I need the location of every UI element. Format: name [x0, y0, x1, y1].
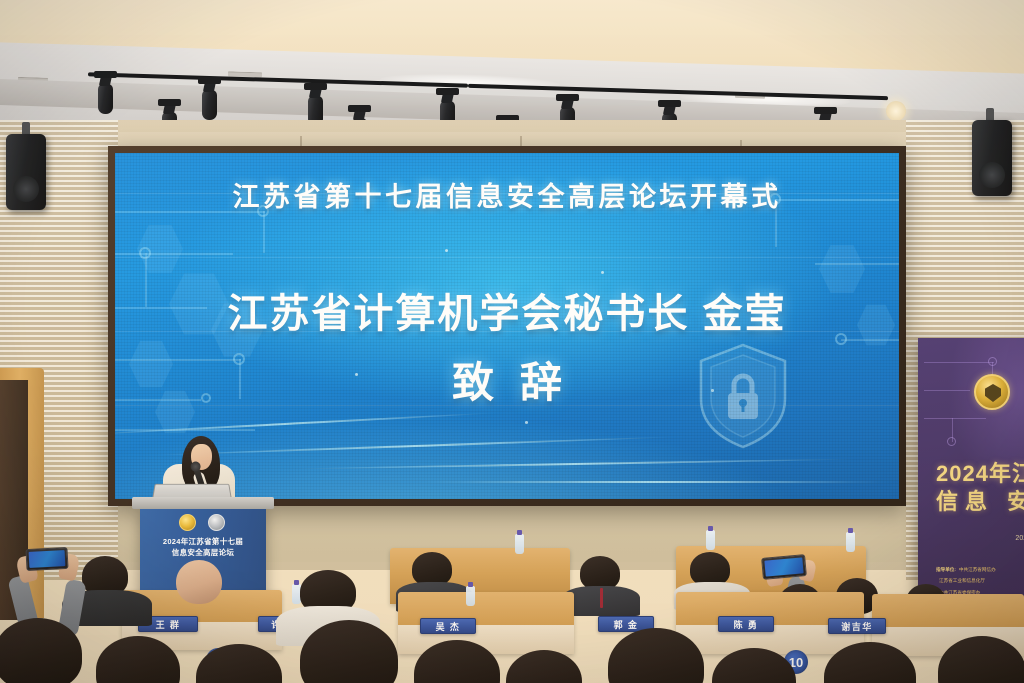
track-spotlight [202, 90, 217, 120]
light-wave [415, 481, 895, 483]
audience-head [412, 552, 452, 586]
wall-speaker-left [6, 134, 46, 210]
banner-circuit-trace [924, 418, 986, 419]
water-bottle [846, 532, 855, 552]
banner-title-line2: 信息 安 全 [936, 484, 1024, 516]
organizer-label: 指导单位: [936, 566, 956, 573]
sparkle [601, 271, 604, 274]
screen-headline: 江苏省计算机学会秘书长 金莹 [115, 281, 899, 339]
podium-sign-text: 2024年江苏省第十七届 信息安全高层论坛 [140, 536, 266, 558]
screen-title: 江苏省第十七届信息安全高层论坛开幕式 [115, 175, 899, 214]
circuit-trace [115, 253, 233, 255]
foreground-head [506, 650, 582, 683]
led-screen: 江苏省第十七届信息安全高层论坛开幕式 江苏省计算机学会秘书长 金莹 致辞 [115, 153, 899, 499]
audience-head-bald [176, 560, 222, 604]
podium-silver-emblem-icon [208, 514, 225, 531]
wall-speaker-right [972, 120, 1012, 196]
phone-screen [29, 550, 66, 568]
banner-subtitle: 中 2024年 [1015, 522, 1024, 544]
water-bottle [706, 530, 715, 550]
podium-top-surface [132, 497, 274, 509]
banner-circuit-node [988, 357, 997, 366]
nameplate: 谢吉华 [828, 618, 886, 634]
banner-organizer-row: 江苏省工业和信息化厅 [936, 577, 1024, 584]
audience-head [690, 552, 730, 586]
podium-gold-emblem-icon [179, 514, 196, 531]
track-spotlight [98, 84, 113, 114]
nameplate: 吴 杰 [420, 618, 476, 634]
circuit-trace [815, 263, 899, 265]
photographer-phone[interactable] [761, 554, 807, 580]
circuit-trace [841, 339, 899, 341]
organizer-value: 江苏省工业和信息化厅 [939, 577, 985, 584]
led-screen-bezel: 江苏省第十七届信息安全高层论坛开幕式 江苏省计算机学会秘书长 金莹 致辞 [108, 146, 906, 506]
screen-subline: 致辞 [115, 349, 899, 410]
photographer-phone[interactable] [25, 547, 68, 571]
phone-screen [764, 557, 803, 576]
sparkle [445, 249, 448, 252]
lanyard [600, 588, 603, 608]
audience-head [580, 556, 620, 590]
water-bottle [515, 534, 524, 554]
conference-hall-photo: 江苏省第十七届信息安全高层论坛开幕式 江苏省计算机学会秘书长 金莹 致辞 202… [0, 0, 1024, 683]
circuit-trace [263, 211, 265, 253]
recessed-downlight [886, 101, 906, 121]
banner-emblem-icon [974, 374, 1010, 410]
banner-circuit-trace [924, 362, 994, 363]
banner-circuit-trace [924, 390, 970, 391]
water-bottle [466, 586, 475, 606]
nameplate: 陈 勇 [718, 616, 774, 632]
banner-circuit-node [947, 437, 956, 446]
banner-subtitle-line1: 中 [1015, 522, 1024, 533]
banner-organizer-row: 指导单位:中共江苏省网信办 [936, 566, 1024, 573]
organizer-value: 中共江苏省网信办 [959, 566, 996, 573]
podium-line1: 2024年江苏省第十七届 [140, 536, 266, 547]
podium-line2: 信息安全高层论坛 [140, 547, 266, 558]
banner-subtitle-line2: 2024年 [1015, 533, 1024, 544]
